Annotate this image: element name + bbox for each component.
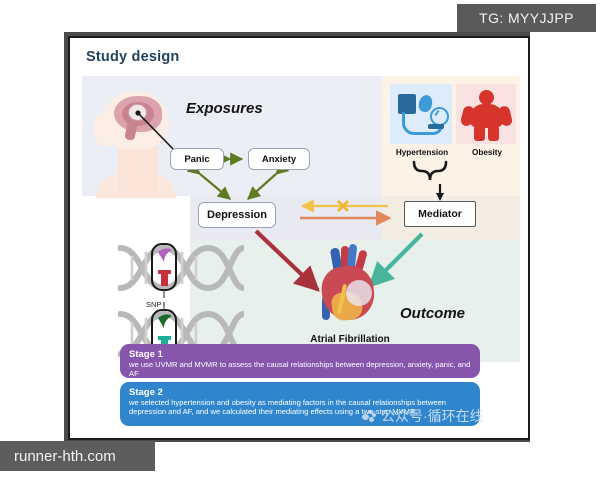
study-design-figure: Study design Exposures Outcome [68,36,530,440]
left-atrium-highlight [346,280,372,306]
blood-pressure-cuff-icon [398,94,416,114]
obesity-leg-left-icon [474,125,485,141]
heart-illustration [310,244,388,330]
obesity-body-icon [469,104,504,128]
site-watermark: runner-hth.com [0,441,155,471]
obesity-icon-card [456,84,516,144]
stage-1-text: we use UVMR and MVMR to assess the causa… [129,361,471,379]
blood-pressure-base-icon [428,124,444,129]
obesity-label: Obesity [458,148,516,157]
snp-label: SNP [146,300,161,309]
stage-2-banner: Stage 2 we selected hypertension and obe… [120,382,480,426]
hypertension-label: Hypertension [382,148,462,157]
dna-helix-svg [118,242,244,360]
node-panic[interactable]: Panic [170,148,224,170]
node-mediator[interactable]: Mediator [404,201,476,227]
node-depression[interactable]: Depression [198,202,276,228]
hypertension-icon-card [390,84,452,144]
obesity-head-icon [479,90,494,105]
stage-2-text: we selected hypertension and obesity as … [129,399,471,417]
figure-canvas: Study design Exposures Outcome [70,38,528,438]
node-anxiety[interactable]: Anxiety [248,148,310,170]
stage-1-title: Stage 1 [129,349,471,360]
dna-snp-illustration [118,242,244,360]
obesity-leg-right-icon [488,125,499,141]
stage-1-banner: Stage 1 we use UVMR and MVMR to assess t… [120,344,480,378]
screenshot-root: Study design Exposures Outcome [0,0,600,480]
telegram-watermark: TG: MYYJJPP [457,4,596,32]
stage-2-title: Stage 2 [129,387,471,398]
